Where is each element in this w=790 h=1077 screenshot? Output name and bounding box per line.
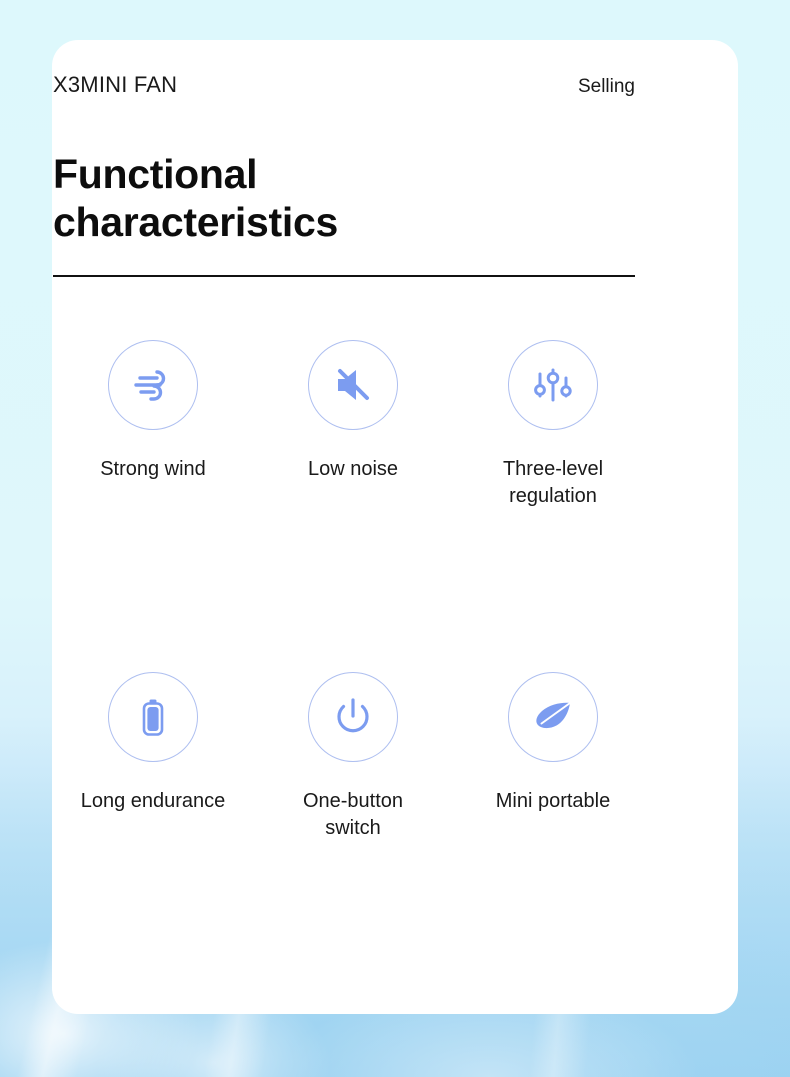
wind-icon bbox=[108, 340, 198, 430]
battery-icon bbox=[108, 672, 198, 762]
feature-grid: Strong wind Low noise Three-level regula… bbox=[53, 340, 653, 842]
status-badge: Selling bbox=[578, 76, 635, 98]
product-name: X3MINI FAN bbox=[53, 72, 177, 98]
page-title: Functional characteristics bbox=[53, 150, 635, 247]
card-header: X3MINI FAN Selling bbox=[53, 72, 635, 98]
sliders-icon bbox=[508, 340, 598, 430]
feature-label: Low noise bbox=[308, 456, 398, 483]
feature-label: Three-level regulation bbox=[478, 456, 628, 510]
feature-item: Low noise bbox=[253, 340, 453, 510]
power-button-icon bbox=[308, 672, 398, 762]
feature-item: Strong wind bbox=[53, 340, 253, 510]
feature-item: Three-level regulation bbox=[453, 340, 653, 510]
title-divider bbox=[53, 275, 635, 277]
feature-item: One-button switch bbox=[253, 672, 453, 842]
feature-item: Long endurance bbox=[53, 672, 253, 842]
feature-label: One-button switch bbox=[278, 788, 428, 842]
feature-label: Strong wind bbox=[100, 456, 206, 483]
speaker-mute-icon bbox=[308, 340, 398, 430]
feather-icon bbox=[508, 672, 598, 762]
feature-label: Mini portable bbox=[496, 788, 611, 815]
page-title-line-1: Functional bbox=[53, 150, 635, 198]
feature-item: Mini portable bbox=[453, 672, 653, 842]
feature-label: Long endurance bbox=[81, 788, 226, 815]
page-title-line-2: characteristics bbox=[53, 198, 635, 246]
